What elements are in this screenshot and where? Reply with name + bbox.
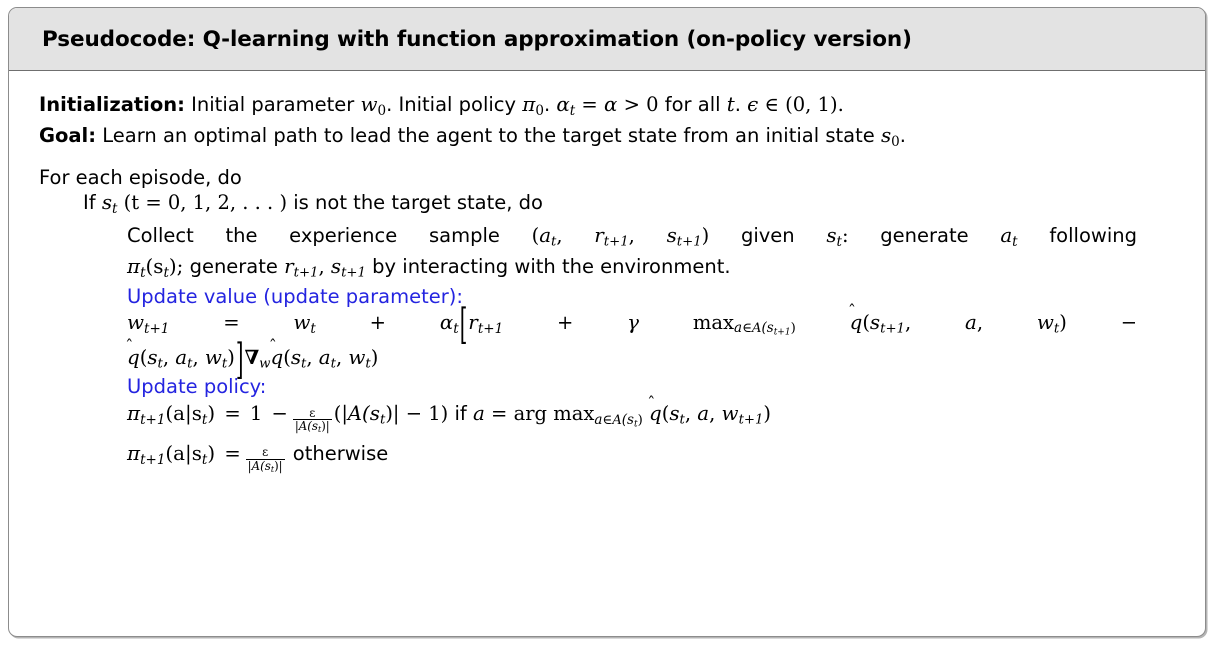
- interval-zero-one: (0, 1).: [785, 93, 844, 116]
- minus-sign: −: [1121, 311, 1137, 334]
- goal-line: Goal: Learn an optimal path to lead the …: [39, 126, 1183, 149]
- symbol-s0: s0: [881, 124, 900, 147]
- pseudocode-body: Initialization: Initial parameter w0. In…: [9, 71, 1205, 474]
- equals-sign-otherwise: =: [221, 442, 243, 465]
- gamma-max-term: γ maxa∈A(st+1): [627, 311, 796, 334]
- pseudocode-box: Pseudocode: Q-learning with function app…: [8, 7, 1206, 637]
- collect-block: Collect the experience sample (at, rt+1,…: [127, 222, 1183, 473]
- collect-word-6: generate: [880, 224, 968, 247]
- epsilon-over-actions-fraction: ε|A(st)|: [293, 407, 332, 435]
- element-of-sign: ∈: [765, 93, 779, 116]
- symbol-w0: w0: [360, 93, 386, 116]
- symbol-s-t-given: st: [826, 224, 842, 247]
- w-update-equation-line-1: wt+1 = wt + αt[rt+1 + γ maxa∈A(st+1) ̂q(…: [127, 313, 1137, 338]
- policy-greedy-equation: πt+1(a|st) = 1 −ε|A(st)|(|A(st)| − 1) if…: [127, 404, 1183, 434]
- symbol-a-t-gen: at: [1000, 224, 1017, 247]
- symbol-pi0: π0: [522, 93, 544, 116]
- collect-word-1: Collect: [127, 224, 194, 247]
- plus-sign-2: +: [557, 311, 573, 334]
- pi-t-plus-1-otherwise: πt+1(a|st): [127, 442, 215, 465]
- gradient-term: ∇ŵq(st, at, wt): [244, 346, 378, 369]
- initialization-text-3: .: [544, 93, 550, 116]
- initialization-label: Initialization:: [39, 93, 185, 116]
- equals-sign: =: [581, 93, 597, 116]
- q-hat-w-next: ̂q(st, a, wt+1): [649, 402, 771, 425]
- collect-line-1: Collect the experience sample (at, rt+1,…: [127, 222, 1137, 252]
- if-text-1: If: [83, 191, 96, 214]
- q-hat-next-state: ̂q(st+1, a, wt): [850, 311, 1067, 334]
- otherwise-word: otherwise: [293, 442, 388, 465]
- collect-word-7: following: [1049, 224, 1137, 247]
- collect-line-2: πt(st); generate rt+1, st+1 by interacti…: [127, 253, 1137, 283]
- w-update-equation-line-2: ̂q(st, at, wt)]∇ŵq(st, at, wt): [127, 348, 1183, 371]
- plus-sign-1: +: [370, 311, 386, 334]
- actions-cardinality-term: (|A(st)| − 1): [334, 402, 449, 425]
- t-range: (t = 0, 1, 2, . . . ): [124, 191, 287, 214]
- pseudocode-header: Pseudocode: Q-learning with function app…: [9, 8, 1205, 71]
- initialization-text-5: .: [735, 93, 741, 116]
- symbol-epsilon: ϵ: [747, 93, 758, 116]
- page-title: Pseudocode: Q-learning with function app…: [42, 27, 912, 52]
- update-value-label: Update value (update parameter):: [127, 287, 1183, 307]
- for-each-episode-line: For each episode, do: [39, 168, 1183, 188]
- goal-label: Goal:: [39, 124, 96, 147]
- equals-sign-update: =: [223, 311, 239, 334]
- initialization-line: Initialization: Initial parameter w0. In…: [39, 95, 1183, 118]
- policy-if-word: if: [454, 402, 466, 425]
- equals-sign-policy: =: [221, 402, 243, 425]
- collect-word-2: the: [225, 224, 257, 247]
- update-policy-label: Update policy:: [127, 377, 1183, 397]
- symbol-t: t: [727, 93, 735, 116]
- reward-next-state-pair: rt+1, st+1: [284, 255, 366, 278]
- symbol-alpha-t: αt: [556, 93, 575, 116]
- greater-than-sign: >: [624, 93, 640, 116]
- minus-sign-policy: −: [269, 402, 291, 425]
- symbol-s-t: st: [102, 191, 118, 214]
- collect-word-5: given: [741, 224, 795, 247]
- value-one: 1: [250, 402, 262, 425]
- alpha-bracket-group: αt[rt+1: [440, 311, 503, 334]
- pi-t-plus-1-greedy: πt+1(a|st): [127, 402, 215, 425]
- action-a: a: [473, 402, 485, 425]
- collect-word-3: experience: [289, 224, 397, 247]
- bracket-close: ]: [236, 339, 244, 381]
- initialization-text-1: Initial parameter: [191, 93, 354, 116]
- epsilon-over-actions-fraction-2: ε|A(st)|: [246, 446, 285, 474]
- collect-generate-word: generate: [190, 255, 278, 278]
- initialization-text-4: for all: [665, 93, 721, 116]
- if-condition-line: If st (t = 0, 1, 2, . . . ) is not the t…: [83, 193, 1183, 216]
- colon-mark: :: [842, 224, 849, 247]
- w-t: wt: [293, 311, 315, 334]
- goal-text-1: Learn an optimal path to lead the agent …: [102, 124, 874, 147]
- policy-pi-t-st: πt(st);: [127, 255, 183, 278]
- q-hat-current: ̂q(st, at, wt): [127, 346, 235, 369]
- goal-text-2: .: [900, 124, 906, 147]
- symbol-alpha: α: [604, 93, 617, 116]
- collect-word-4: sample: [429, 224, 500, 247]
- argmax-term: arg maxa∈A(st): [514, 402, 643, 425]
- bracket-open: [: [460, 304, 468, 346]
- experience-tuple: (at, rt+1, st+1): [532, 224, 710, 247]
- value-zero: 0: [646, 93, 658, 116]
- equals-sign-argmax: =: [491, 402, 507, 425]
- w-t-plus-1: wt+1: [127, 311, 169, 334]
- intro-block: Initialization: Initial parameter w0. In…: [39, 95, 1183, 150]
- collect-line2-tail: by interacting with the environment.: [372, 255, 730, 278]
- initialization-text-2: . Initial policy: [386, 93, 516, 116]
- if-text-2: is not the target state, do: [293, 191, 543, 214]
- policy-otherwise-equation: πt+1(a|st) =ε|A(st)| otherwise: [127, 444, 1183, 474]
